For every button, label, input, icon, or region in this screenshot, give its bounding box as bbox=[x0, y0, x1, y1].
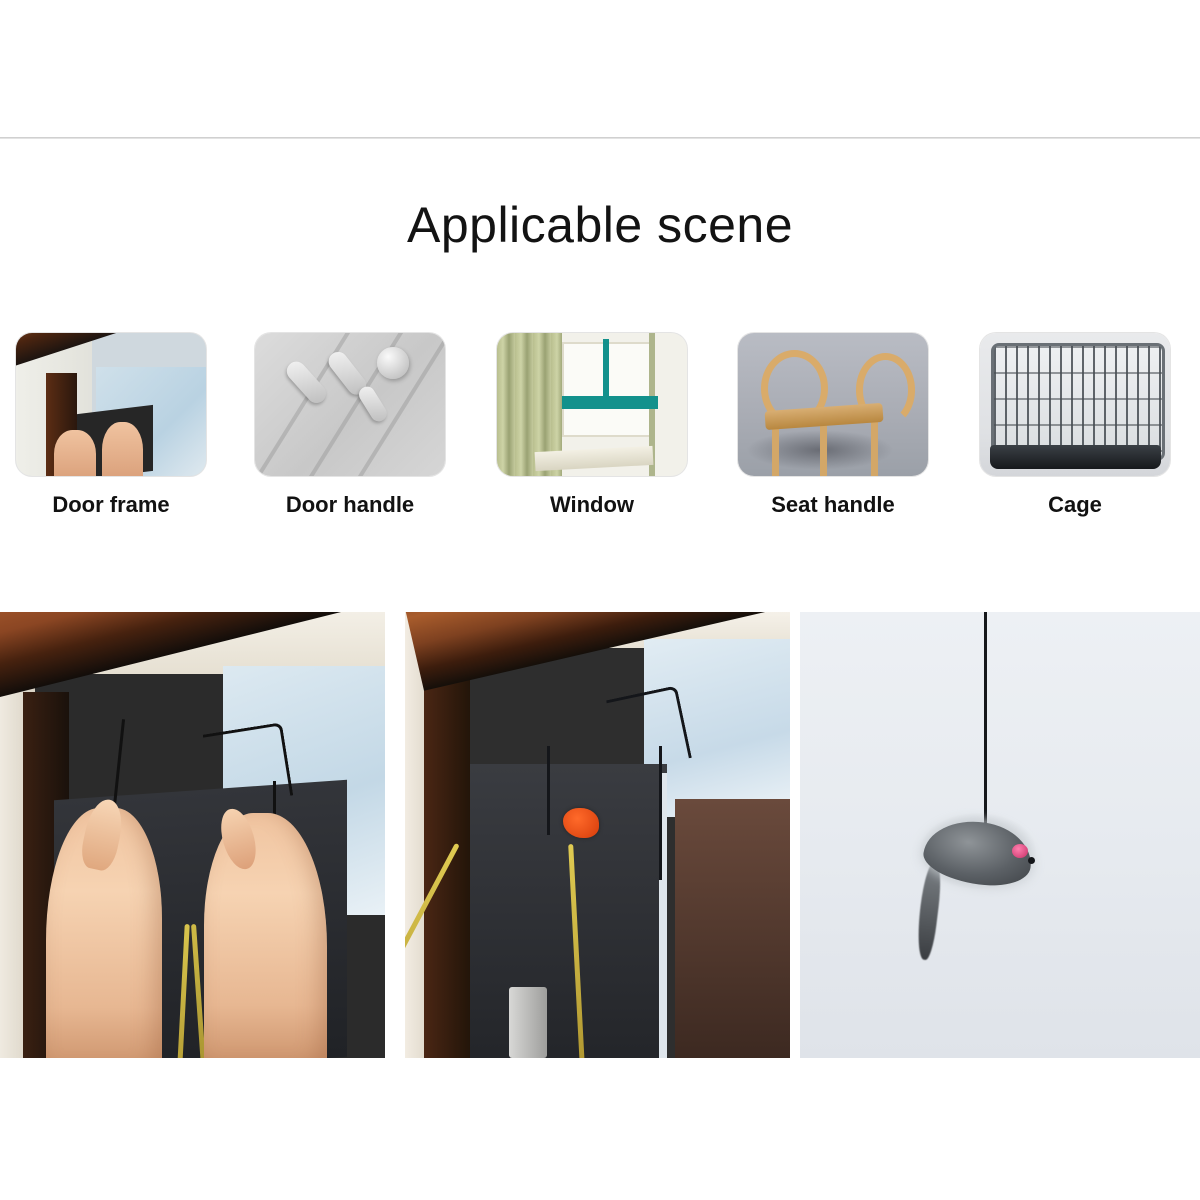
hand-shape bbox=[54, 430, 96, 476]
install-step-mounted-photo[interactable] bbox=[405, 612, 790, 1058]
seat-handle-thumbnail[interactable] bbox=[738, 333, 928, 476]
mouse-tail-shape bbox=[914, 861, 944, 961]
wire-hook-shape bbox=[606, 686, 692, 774]
hanging-string-shape bbox=[984, 612, 987, 831]
mouse-nose-shape bbox=[1012, 844, 1028, 858]
scene-label-door-frame: Door frame bbox=[16, 492, 206, 518]
door-knob-shape bbox=[377, 347, 409, 378]
right-hand-shape bbox=[204, 813, 327, 1058]
cage-thumbnail[interactable] bbox=[980, 333, 1170, 476]
hand-shape bbox=[102, 422, 144, 476]
metal-bracket-shape bbox=[509, 987, 548, 1058]
scene-item-door-handle[interactable]: Door handle bbox=[255, 333, 445, 518]
cage-wire-shape bbox=[991, 343, 1164, 461]
applicable-scene-list: Door frame Door handle Window bbox=[0, 333, 1200, 548]
scene-label-cage: Cage bbox=[980, 492, 1170, 518]
teal-bar-horizontal bbox=[560, 396, 659, 409]
chair-leg-shape bbox=[871, 413, 878, 476]
wire-hook-shape bbox=[659, 746, 662, 880]
mesh-screen-shape bbox=[459, 764, 667, 1058]
page-title: Applicable scene bbox=[0, 196, 1200, 254]
scene-item-cage[interactable]: Cage bbox=[980, 333, 1170, 518]
scene-label-seat-handle: Seat handle bbox=[738, 492, 928, 518]
install-step-hands-photo[interactable] bbox=[0, 612, 385, 1058]
scene-label-door-handle: Door handle bbox=[255, 492, 445, 518]
scene-item-door-frame[interactable]: Door frame bbox=[16, 333, 206, 518]
scene-item-seat-handle[interactable]: Seat handle bbox=[738, 333, 928, 518]
scene-label-window: Window bbox=[497, 492, 687, 518]
window-thumbnail[interactable] bbox=[497, 333, 687, 476]
door-handle-thumbnail[interactable] bbox=[255, 333, 445, 476]
lever-handle-shape bbox=[356, 383, 389, 424]
panel-groove bbox=[255, 333, 369, 476]
wire-hook-shape bbox=[203, 722, 294, 808]
top-divider bbox=[0, 137, 1200, 139]
product-mouse-toy-photo[interactable] bbox=[800, 612, 1200, 1058]
wire-hook-shape bbox=[547, 746, 550, 835]
teal-bar-vertical bbox=[603, 339, 609, 402]
mouse-eye-shape bbox=[1028, 857, 1035, 864]
door-frame-thumbnail[interactable] bbox=[16, 333, 206, 476]
cage-tray-shape bbox=[990, 445, 1161, 469]
scene-item-window[interactable]: Window bbox=[497, 333, 687, 518]
usage-photo-row bbox=[0, 612, 1200, 1058]
inner-door-shape bbox=[675, 799, 791, 1058]
